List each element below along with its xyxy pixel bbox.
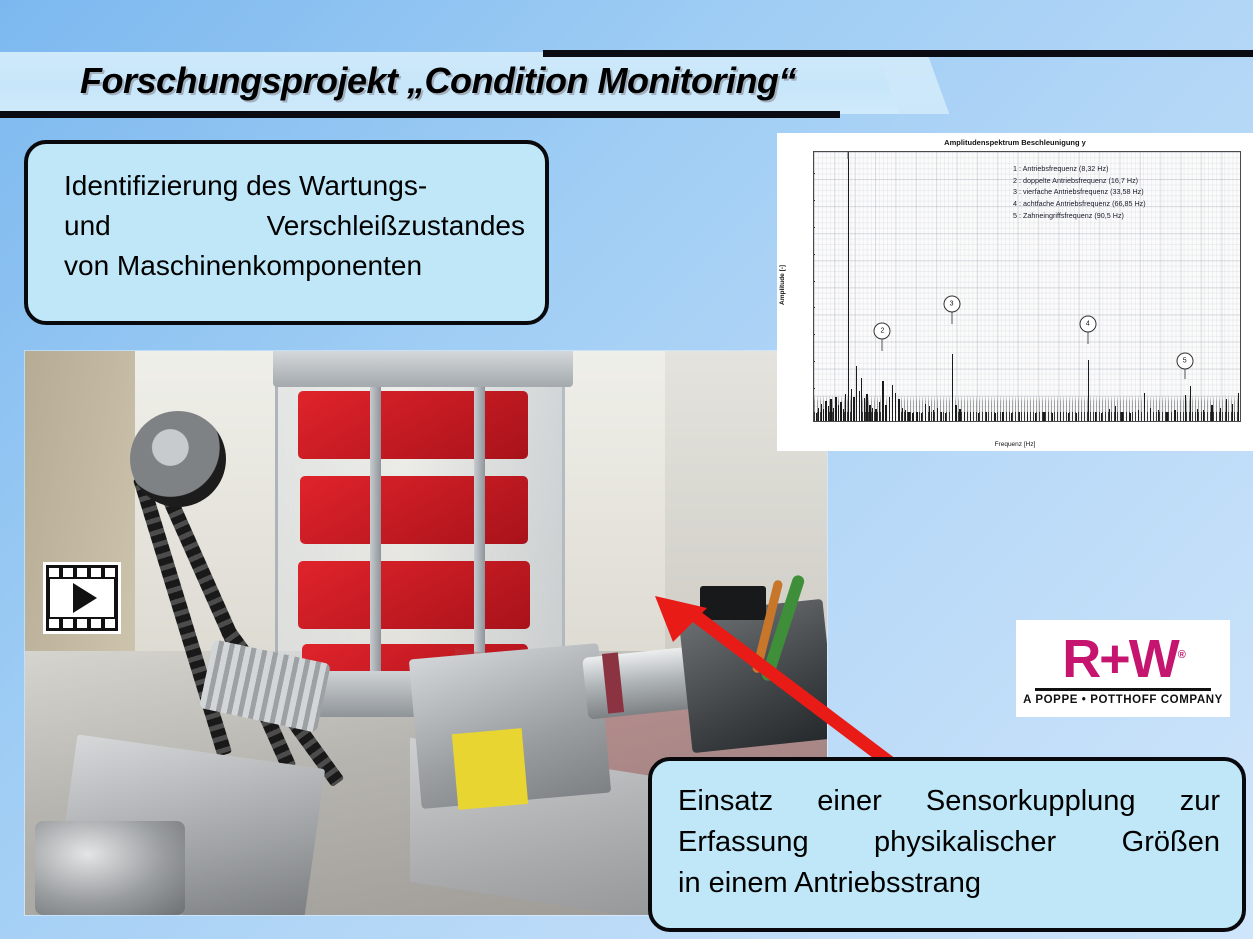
chart-peak: [1138, 410, 1139, 421]
chart-peak: [861, 378, 862, 421]
photo-red-block: [300, 476, 528, 544]
callout-right-line-2: Erfassung physikalischer Größen: [678, 822, 1220, 863]
chart-peak: [1226, 399, 1227, 421]
photo-warning-label: [452, 728, 528, 810]
chart-peak: [825, 401, 826, 421]
chart-peak: [1203, 410, 1204, 421]
chart-peak: [978, 413, 979, 421]
chart-peak: [1174, 410, 1175, 421]
callout-left-line-2b: Verschleißzustandes: [267, 206, 525, 246]
chart-peak: [889, 397, 890, 421]
photo-motor-connector: [700, 586, 766, 620]
sensor-coupling-callout: Einsatz einer Sensorkupplung zur Erfassu…: [648, 757, 1246, 932]
chart-peak: [851, 389, 852, 421]
chart-marker-2: 2: [874, 323, 891, 340]
callout-right-w1: Einsatz: [678, 781, 773, 822]
chart-peak: [833, 408, 834, 421]
photo-guide-rod: [370, 351, 381, 711]
chart-marker-3: 3: [943, 296, 960, 313]
chart-x-axis-label: Frequenz [Hz]: [777, 441, 1253, 448]
chart-peak: [941, 412, 942, 421]
chart-peak: [1035, 413, 1036, 421]
chart-peak: [1052, 413, 1053, 421]
title-rule-bottom: [0, 111, 840, 118]
chart-peak: [1011, 413, 1012, 421]
chart-peak: [818, 408, 819, 421]
chart-peak: [823, 409, 824, 421]
chart-y-axis-label: Amplitude [-]: [779, 265, 786, 305]
chart-marker-5: 5: [1176, 352, 1193, 369]
chart-legend-item: 2 : doppelte Antriebsfrequenz (16,7 Hz): [1013, 175, 1146, 187]
chart-peak: [875, 409, 876, 421]
chart-peak: [1150, 408, 1151, 421]
chart-peak: [859, 391, 860, 421]
chart-peak: [1027, 413, 1028, 421]
chart-peak: [895, 393, 896, 421]
chart-peak: [1019, 412, 1020, 421]
chart-peak: [1060, 412, 1061, 421]
chart-legend-item: 3 : vierfache Antriebsfrequenz (33,58 Hz…: [1013, 186, 1146, 198]
callout-left-line-2: und Verschleißzustandes: [64, 206, 525, 246]
chart-peak: [1088, 360, 1089, 421]
chart-legend-item: 5 : Zahneingriffsfrequenz (90,5 Hz): [1013, 210, 1146, 222]
chart-peak: [1109, 409, 1110, 421]
photo-bearing-boss: [35, 821, 185, 915]
film-frame: [46, 565, 118, 631]
chart-peak: [879, 402, 880, 421]
chart-peak: [882, 381, 883, 421]
chart-peak: [848, 152, 849, 421]
chart-peak: [1002, 412, 1003, 421]
callout-right-line-3: in einem Antriebsstrang: [678, 863, 1220, 904]
callout-right-w5: Erfassung: [678, 822, 809, 863]
chart-peak: [828, 406, 829, 421]
chart-peak: [994, 413, 995, 421]
film-perforations-bottom: [49, 619, 115, 628]
chart-peak: [952, 354, 953, 421]
chart-peak: [843, 409, 844, 421]
chart-legend-item: 4 : achtfache Antriebsfrequenz (66,85 Hz…: [1013, 198, 1146, 210]
chart-peak: [840, 402, 841, 421]
callout-right-w7: Größen: [1122, 822, 1220, 863]
chart-peak: [1185, 395, 1186, 421]
chart-peak: [908, 412, 909, 421]
chart-peak: [1043, 412, 1044, 421]
photo-cylinder-cap: [273, 351, 573, 387]
chart-peak: [955, 405, 956, 421]
rw-tagline: A POPPE • POTTHOFF COMPANY: [1023, 694, 1223, 706]
photo-red-block: [298, 391, 528, 459]
rw-mark-text: R+W: [1062, 629, 1178, 689]
chart-peak: [830, 399, 831, 421]
chart-peak: [1197, 409, 1198, 421]
chart-peak: [835, 397, 836, 421]
chart-peak: [945, 413, 946, 421]
chart-peak: [933, 410, 934, 421]
chart-peak: [1115, 406, 1116, 421]
chart-peak: [885, 405, 886, 421]
chart-legend: 1 : Antriebsfrequenz (8,32 Hz)2 : doppel…: [1013, 163, 1146, 221]
chart-peak: [821, 404, 822, 421]
chart-peak: [1166, 412, 1167, 421]
chart-peak: [1144, 393, 1145, 421]
rw-registered-mark: ®: [1178, 649, 1184, 661]
chart-peak: [905, 410, 906, 421]
chart-peak: [929, 406, 930, 421]
play-video-icon[interactable]: [43, 562, 121, 634]
chart-peak: [816, 413, 817, 421]
identification-callout: Identifizierung des Wartungs- und Versch…: [24, 140, 549, 325]
amplitude-spectrum-chart: Amplitudenspektrum Beschleunigung y Ampl…: [777, 133, 1253, 451]
callout-left-line-3: von Maschinenkomponenten: [64, 246, 525, 286]
rw-logo: R+W® A POPPE • POTTHOFF COMPANY: [1016, 620, 1230, 717]
chart-peak: [902, 408, 903, 421]
chart-peak: [1076, 413, 1077, 421]
photo-sprocket: [130, 411, 226, 507]
title-rule-top: [543, 50, 1253, 57]
chart-peak: [1238, 393, 1239, 421]
chart-peak: [959, 409, 960, 421]
chart-peak: [1190, 386, 1191, 421]
callout-right-w6: physikalischer: [874, 822, 1056, 863]
chart-peak: [1158, 410, 1159, 421]
chart-peak: [921, 413, 922, 421]
play-triangle-icon: [73, 583, 97, 613]
callout-right-w3: Sensorkupplung: [926, 781, 1136, 822]
photo-servo-motor: [678, 599, 827, 753]
chart-peak: [845, 394, 846, 421]
chart-peak: [866, 394, 867, 421]
photo-red-block: [298, 561, 530, 629]
chart-peak: [1121, 412, 1122, 421]
chart-peak: [1068, 413, 1069, 421]
chart-peak: [916, 412, 917, 421]
page-title: Forschungsprojekt „Condition Monitoring“: [80, 60, 796, 102]
slide-canvas: Forschungsprojekt „Condition Monitoring“…: [0, 0, 1253, 939]
chart-peak: [1101, 413, 1102, 421]
chart-peak: [1220, 408, 1221, 421]
chart-peak: [856, 366, 857, 421]
chart-peak: [970, 413, 971, 421]
chart-marker-stem: [848, 151, 849, 159]
chart-title: Amplitudenspektrum Beschleunigung y: [777, 138, 1253, 147]
callout-right-w4: zur: [1180, 781, 1220, 822]
rw-wordmark: R+W®: [1062, 632, 1184, 686]
chart-peak: [838, 405, 839, 421]
chart-peak: [925, 404, 926, 421]
callout-right-w2: einer: [817, 781, 882, 822]
chart-peak: [986, 412, 987, 421]
callout-left-line-2a: und: [64, 206, 111, 246]
callout-right-line-1: Einsatz einer Sensorkupplung zur: [678, 781, 1220, 822]
chart-peak: [937, 408, 938, 421]
chart-peak: [1232, 404, 1233, 421]
chart-peak: [912, 413, 913, 421]
chart-peak: [853, 397, 854, 421]
chart-peak: [892, 385, 893, 421]
chart-peak: [864, 398, 865, 421]
chart-peak: [1095, 412, 1096, 421]
chart-legend-item: 1 : Antriebsfrequenz (8,32 Hz): [1013, 163, 1146, 175]
chart-peak: [964, 412, 965, 421]
chart-peak: [898, 399, 899, 421]
chart-peak: [1211, 405, 1212, 421]
film-screen: [50, 579, 114, 617]
chart-peak: [872, 408, 873, 421]
film-perforations-top: [49, 568, 115, 577]
callout-left-line-1: Identifizierung des Wartungs-: [64, 166, 525, 206]
chart-peak: [869, 405, 870, 421]
chart-marker-4: 4: [1079, 316, 1096, 333]
chart-peak: [1129, 413, 1130, 421]
